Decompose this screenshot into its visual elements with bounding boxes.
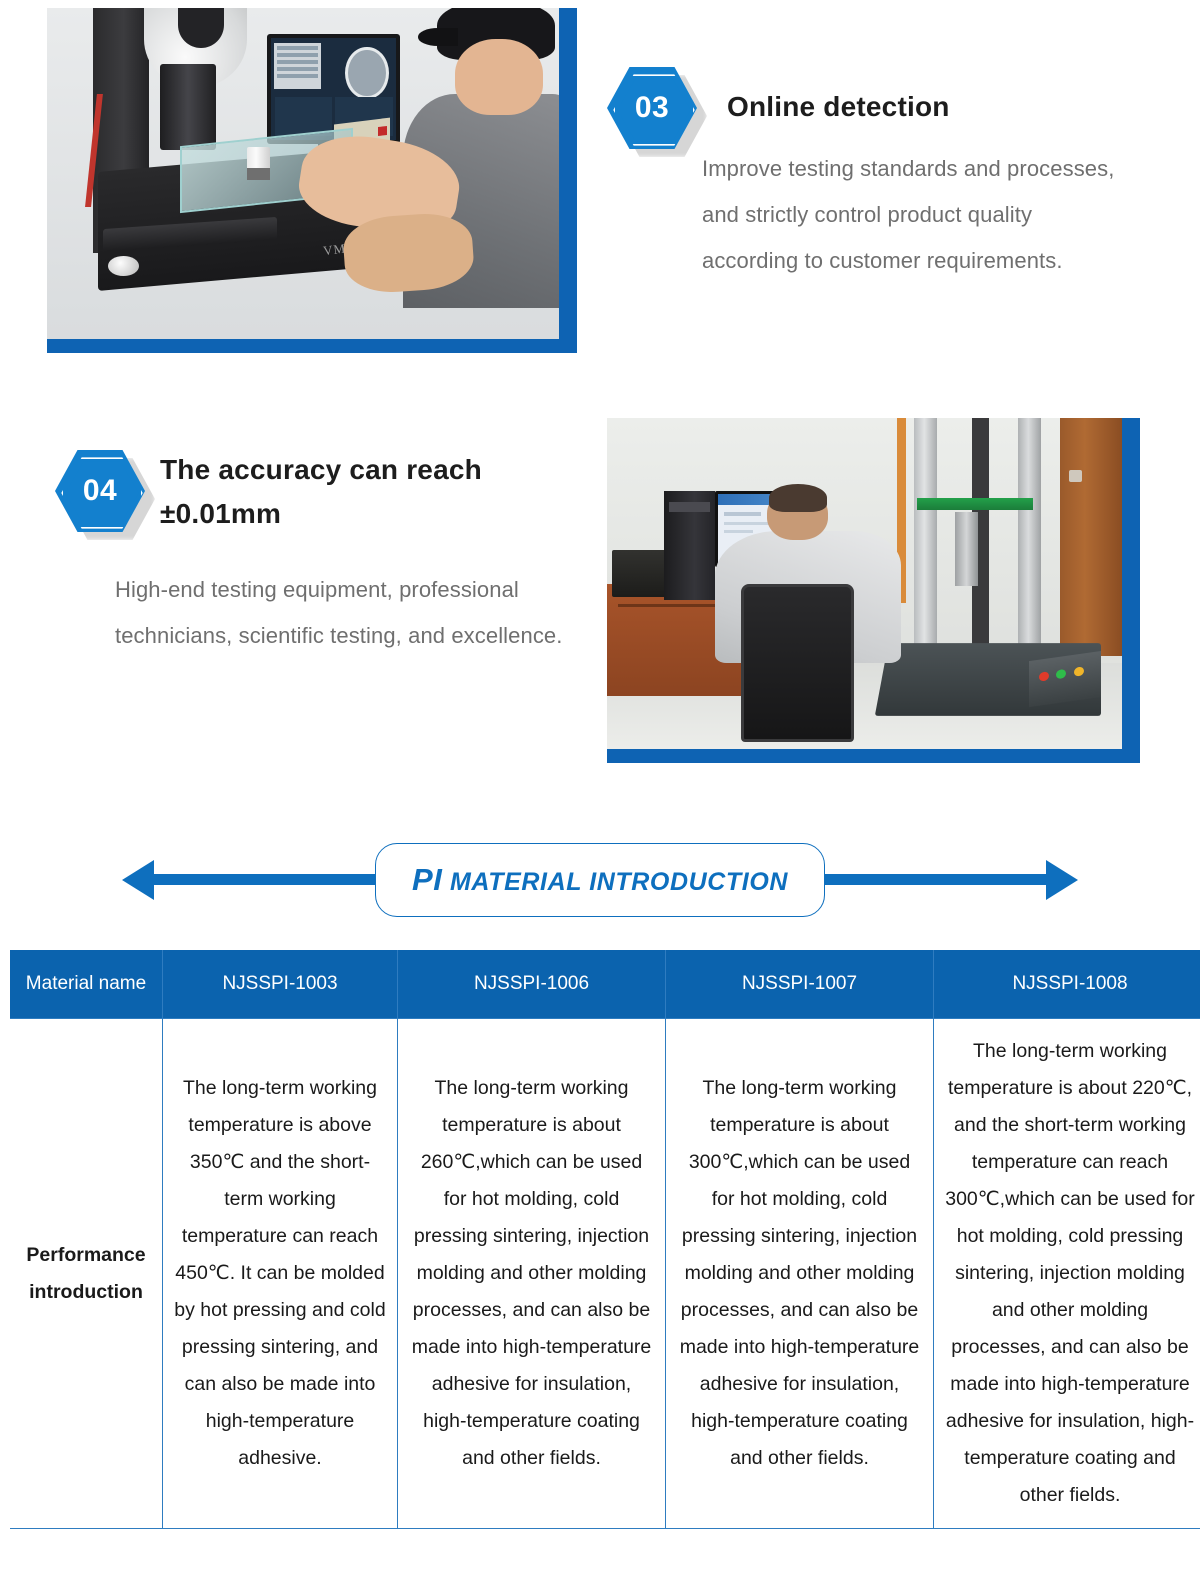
table-header-njsspi-1008: NJSSPI-1008 [934,950,1200,1019]
row-label-performance-introduction: Performance introduction [10,1019,163,1529]
banner-title-lead: PI [412,862,443,897]
material-table: Material name NJSSPI-1003 NJSSPI-1006 NJ… [10,950,1200,1529]
cell-njsspi-1008-performance: The long-term working temperature is abo… [934,1019,1200,1529]
cell-njsspi-1003-performance: The long-term working temperature is abo… [163,1019,398,1529]
table-header-njsspi-1003: NJSSPI-1003 [163,950,398,1019]
feature-title-accuracy: The accuracy can reach ±0.01mm [160,448,550,536]
badge-number: 04 [83,474,117,508]
table-header-njsspi-1006: NJSSPI-1006 [398,950,666,1019]
arrow-left-icon [122,860,154,900]
badge-number: 03 [635,91,669,125]
section-banner: PI MATERIAL INTRODUCTION [0,820,1200,920]
arrow-right-icon [1046,860,1078,900]
photo-tensile-testing-lab [607,418,1122,749]
banner-pill: PI MATERIAL INTRODUCTION [375,843,825,917]
table-header-row: Material name NJSSPI-1003 NJSSPI-1006 NJ… [10,950,1200,1019]
online-detection-photo: VML300 [47,8,577,353]
feature-badge-03: 03 [607,67,697,149]
photo-optical-measuring-machine: VML300 [47,8,559,339]
table-header-njsspi-1007: NJSSPI-1007 [666,950,934,1019]
table-row: Performance introduction The long-term w… [10,1019,1200,1529]
feature-body-accuracy: High-end testing equipment, professional… [115,567,585,659]
cell-njsspi-1007-performance: The long-term working temperature is abo… [666,1019,934,1529]
feature-body-online-detection: Improve testing standards and processes,… [702,146,1117,284]
feature-title-online-detection: Online detection [727,85,1147,129]
table-header-material-name: Material name [10,950,163,1019]
feature-badge-04: 04 [55,450,145,532]
cell-njsspi-1006-performance: The long-term working temperature is abo… [398,1019,666,1529]
banner-title-rest: MATERIAL INTRODUCTION [450,868,788,896]
accuracy-photo [607,418,1140,763]
